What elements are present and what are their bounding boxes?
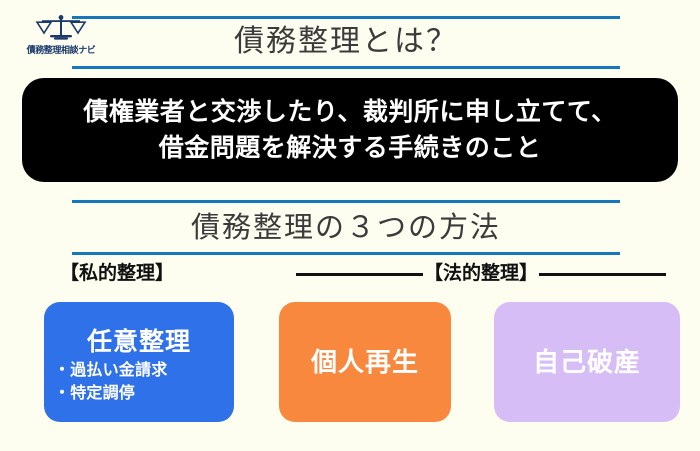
dash-right (539, 273, 666, 276)
method-bullets-nini-seiri: ・過払い金請求 ・特定調停 (44, 359, 234, 405)
dash-left (296, 273, 423, 276)
list-item: ・過払い金請求 (54, 359, 234, 382)
page-title: 債務整理とは？ (72, 22, 620, 62)
section-rule-top (72, 200, 620, 203)
list-item: ・特定調停 (54, 382, 234, 405)
definition-callout: 債権業者と交渉したり、裁判所に申し立てて、 借金問題を解決する手続きのこと (22, 78, 678, 182)
header-rule-bottom (72, 66, 620, 69)
method-box-nini-seiri: 任意整理 ・過払い金請求 ・特定調停 (44, 302, 234, 422)
category-label-legal: 【法的整理】 (423, 262, 539, 286)
section-title: 債務整理の３つの方法 (72, 206, 620, 248)
definition-line-1: 債権業者と交渉したり、裁判所に申し立てて、 (83, 94, 616, 130)
header-rule-top (72, 16, 620, 19)
category-label-private: 【私的整理】 (60, 262, 174, 286)
method-box-kojin-saisei: 個人再生 (279, 302, 451, 422)
section-rule-bottom (72, 252, 620, 255)
infographic-canvas: 債務整理相談ナビ 債務整理とは？ 債権業者と交渉したり、裁判所に申し立てて、 借… (0, 0, 700, 451)
method-title-kojin-saisei: 個人再生 (279, 302, 451, 422)
category-label-legal-group: 【法的整理】 (296, 262, 666, 286)
method-box-jiko-hasan: 自己破産 (494, 302, 680, 422)
definition-line-2: 借金問題を解決する手続きのこと (159, 130, 542, 166)
method-title-jiko-hasan: 自己破産 (494, 302, 680, 422)
method-title-nini-seiri: 任意整理 (44, 327, 234, 357)
